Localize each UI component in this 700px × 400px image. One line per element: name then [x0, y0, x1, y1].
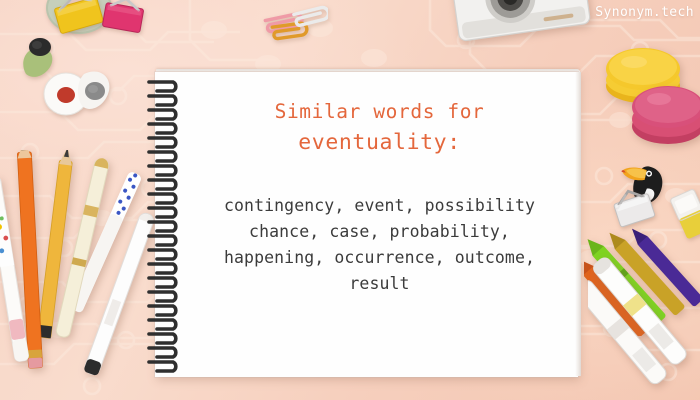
pencils-and-pens-icon	[0, 150, 162, 400]
paper-clips-icon	[256, 2, 328, 42]
synonyms-list: contingency, event, possibility chance, …	[224, 193, 535, 297]
page-content: Similar words for eventuality: contingen…	[155, 72, 578, 377]
page-headword: eventuality:	[298, 126, 461, 159]
markers-icon	[588, 238, 700, 388]
site-watermark: Synonym.tech	[595, 5, 694, 20]
camera-icon	[450, 0, 600, 52]
binder-clip-pink-icon	[96, 0, 154, 40]
screenshot-canvas: Similar words for eventuality: contingen…	[0, 0, 700, 400]
erasers-icon	[38, 58, 124, 120]
page-title-line-1: Similar words for	[275, 97, 485, 126]
macaron-pink-icon	[626, 78, 700, 146]
